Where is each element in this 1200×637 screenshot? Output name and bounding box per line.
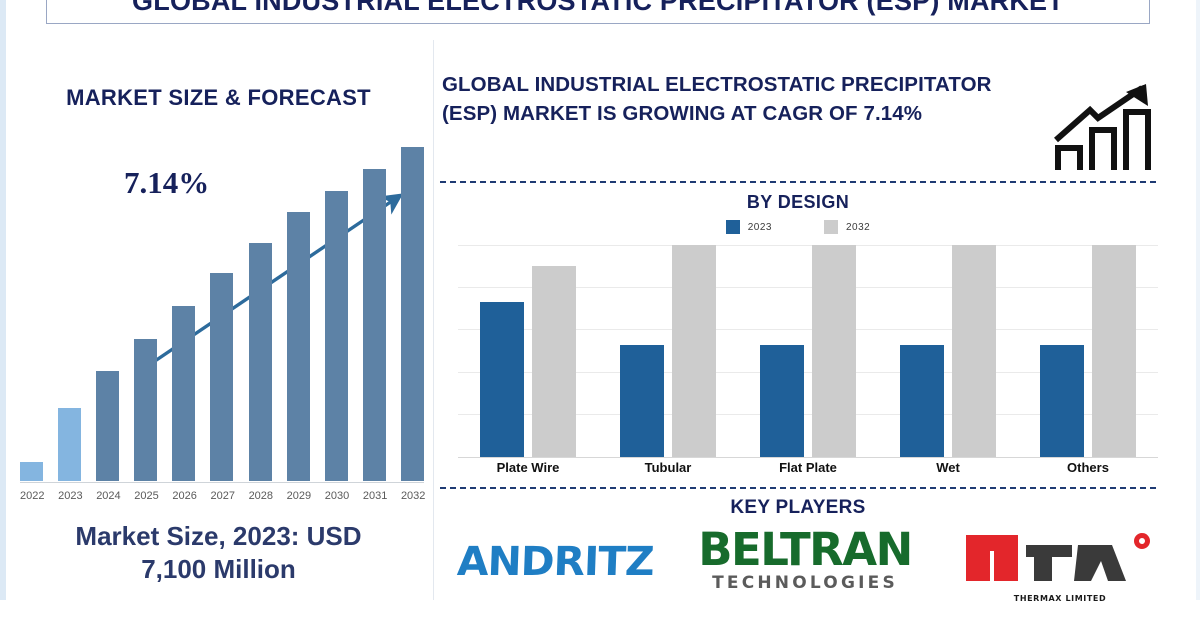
- market-size-year-labels: 2022 2023 2024 2025 2026 2027 2028 2029 …: [20, 490, 424, 502]
- by-design-category-labels: Plate Wire Tubular Flat Plate Wet Others: [458, 460, 1158, 475]
- bar-plate-wire-2023: [480, 302, 524, 457]
- right-edge-strip: [1196, 0, 1200, 600]
- category-label-tubular: Tubular: [618, 460, 718, 475]
- by-design-legend: 2023 2032: [440, 220, 1156, 234]
- logo-beltran[interactable]: BELTRAN TECHNOLOGIES: [670, 527, 940, 593]
- bar-others-2023: [1040, 345, 1084, 457]
- year-label: 2028: [249, 490, 272, 502]
- logo-thermax-mark: [960, 529, 1160, 593]
- bar-2031: [363, 169, 386, 481]
- group-flat-plate: [760, 245, 856, 457]
- by-design-groups: [458, 245, 1158, 457]
- page-title: GLOBAL INDUSTRIAL ELECTROSTATIC PRECIPIT…: [132, 0, 1064, 15]
- divider-top: [440, 181, 1156, 183]
- logo-thermax-subtext: THERMAX LIMITED: [1014, 594, 1106, 603]
- year-label: 2024: [96, 490, 119, 502]
- bar-2030: [325, 191, 348, 481]
- bar-2026: [172, 306, 195, 481]
- logo-beltran-subtext: TECHNOLOGIES: [712, 573, 898, 593]
- category-label-wet: Wet: [898, 460, 998, 475]
- market-size-panel: MARKET SIZE & FORECAST 7.14%: [6, 40, 431, 600]
- panel-divider: [433, 40, 434, 600]
- group-plate-wire: [480, 245, 576, 457]
- headline-row: GLOBAL INDUSTRIAL ELECTROSTATIC PRECIPIT…: [440, 70, 1196, 180]
- bar-2025: [134, 339, 157, 481]
- market-size-bar-chart: [20, 175, 424, 485]
- page-title-banner: GLOBAL INDUSTRIAL ELECTROSTATIC PRECIPIT…: [46, 0, 1150, 24]
- bar-flat-plate-2023: [760, 345, 804, 457]
- bar-2032: [401, 147, 424, 481]
- market-size-value-line1: Market Size, 2023: USD: [6, 520, 431, 553]
- group-tubular: [620, 245, 716, 457]
- category-label-others: Others: [1038, 460, 1138, 475]
- year-label: 2026: [172, 490, 195, 502]
- legend-item-2032[interactable]: 2032: [824, 220, 870, 234]
- year-label: 2030: [325, 490, 348, 502]
- category-label-plate-wire: Plate Wire: [478, 460, 578, 475]
- bar-chart-growth-icon: [1050, 82, 1160, 174]
- growth-headline: GLOBAL INDUSTRIAL ELECTROSTATIC PRECIPIT…: [442, 70, 1032, 128]
- bar-wet-2023: [900, 345, 944, 457]
- legend-label-2032: 2032: [846, 222, 870, 233]
- market-size-heading: MARKET SIZE & FORECAST: [6, 85, 431, 111]
- legend-swatch-2032: [824, 220, 838, 234]
- by-design-title: BY DESIGN: [440, 192, 1156, 213]
- infographic-page: GLOBAL INDUSTRIAL ELECTROSTATIC PRECIPIT…: [0, 0, 1200, 600]
- bar-2024: [96, 371, 119, 481]
- year-label: 2023: [58, 490, 81, 502]
- key-players-title: KEY PLAYERS: [440, 497, 1156, 519]
- bar-2027: [210, 273, 233, 481]
- year-label: 2032: [401, 490, 424, 502]
- chart-baseline: [20, 482, 424, 483]
- bar-2028: [249, 243, 272, 481]
- year-label: 2022: [20, 490, 43, 502]
- bar-flat-plate-2032: [812, 245, 856, 457]
- logo-beltran-wordmark: BELTRAN: [698, 529, 912, 572]
- group-wet: [900, 245, 996, 457]
- year-label: 2029: [287, 490, 310, 502]
- year-label: 2031: [363, 490, 386, 502]
- logo-andritz[interactable]: ANDRITZ: [440, 527, 670, 585]
- summary-panel: GLOBAL INDUSTRIAL ELECTROSTATIC PRECIPIT…: [440, 40, 1196, 600]
- bar-others-2032: [1092, 245, 1136, 457]
- key-players-logos: ANDRITZ BELTRAN TECHNOLOGIES: [440, 527, 1180, 637]
- logo-andritz-wordmark: ANDRITZ: [456, 539, 654, 585]
- divider-bottom: [440, 487, 1156, 489]
- bar-2022: [20, 462, 43, 481]
- legend-label-2023: 2023: [748, 222, 772, 233]
- market-size-bars: [20, 181, 424, 481]
- year-label: 2027: [210, 490, 233, 502]
- legend-item-2023[interactable]: 2023: [726, 220, 772, 234]
- group-others: [1040, 245, 1136, 457]
- category-label-flat-plate: Flat Plate: [758, 460, 858, 475]
- logo-thermax[interactable]: THERMAX LIMITED: [940, 527, 1180, 603]
- legend-swatch-2023: [726, 220, 740, 234]
- bar-tubular-2032: [672, 245, 716, 457]
- market-size-value-line2: 7,100 Million: [6, 553, 431, 586]
- year-label: 2025: [134, 490, 157, 502]
- bar-plate-wire-2032: [532, 266, 576, 457]
- bar-tubular-2023: [620, 345, 664, 457]
- bar-2023: [58, 408, 81, 481]
- market-size-value: Market Size, 2023: USD 7,100 Million: [6, 520, 431, 585]
- bar-wet-2032: [952, 245, 996, 457]
- by-design-bar-chart: [458, 245, 1158, 457]
- bar-2029: [287, 212, 310, 481]
